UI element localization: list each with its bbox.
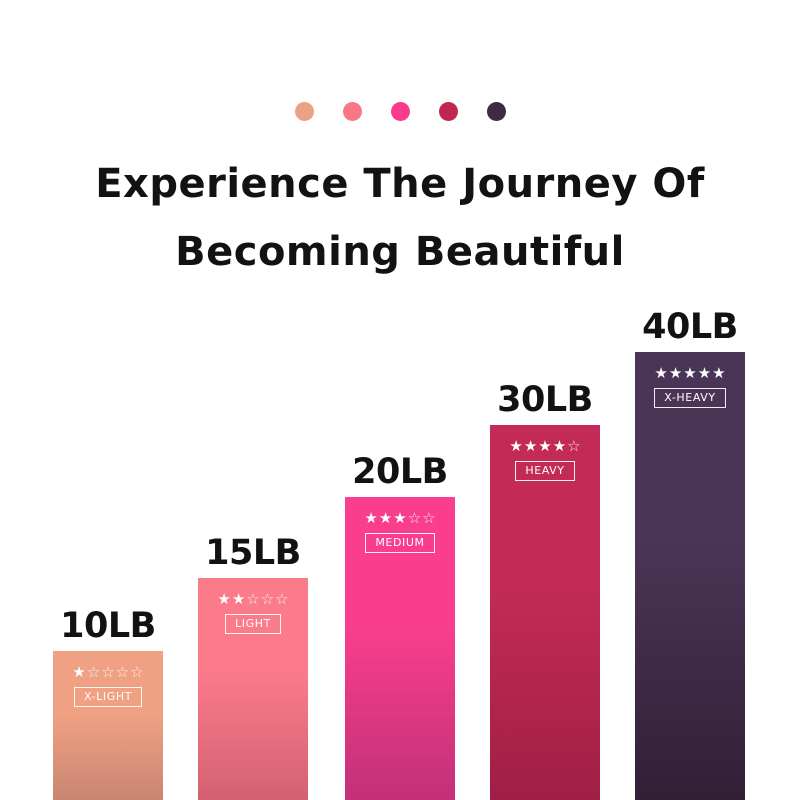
resistance-band-chart-page: Experience The Journey Of Becoming Beaut…	[0, 0, 800, 800]
bar-weight-label: 30LB	[497, 381, 593, 419]
star-empty-icon: ☆	[116, 665, 129, 680]
star-empty-icon: ☆	[261, 592, 274, 607]
bar-body: ★☆☆☆☆X-LIGHT	[53, 651, 163, 800]
star-empty-icon: ☆	[87, 665, 100, 680]
star-empty-icon: ☆	[101, 665, 114, 680]
star-rating: ★★★★☆	[509, 439, 580, 454]
resistance-level-label: LIGHT	[225, 614, 281, 634]
resistance-level-label: HEAVY	[515, 461, 574, 481]
resistance-level-label: MEDIUM	[365, 533, 434, 553]
bar-body: ★★☆☆☆LIGHT	[198, 578, 308, 800]
star-rating: ★★★☆☆	[364, 511, 435, 526]
star-filled-icon: ★	[524, 439, 537, 454]
bar-fill	[635, 352, 745, 800]
bar-weight-label: 15LB	[205, 534, 301, 572]
star-filled-icon: ★	[538, 439, 551, 454]
star-empty-icon: ☆	[275, 592, 288, 607]
star-filled-icon: ★	[217, 592, 230, 607]
bar-group-10lb[interactable]: 10LB★☆☆☆☆X-LIGHT	[53, 651, 163, 800]
star-rating: ★★☆☆☆	[217, 592, 288, 607]
star-filled-icon: ★	[509, 439, 522, 454]
bar-chart: 10LB★☆☆☆☆X-LIGHT15LB★★☆☆☆LIGHT20LB★★★☆☆M…	[0, 0, 800, 800]
star-filled-icon: ★	[654, 366, 667, 381]
bar-body: ★★★★☆HEAVY	[490, 425, 600, 800]
bar-weight-label: 20LB	[352, 453, 448, 491]
star-filled-icon: ★	[379, 511, 392, 526]
star-empty-icon: ☆	[422, 511, 435, 526]
star-filled-icon: ★	[712, 366, 725, 381]
bar-group-20lb[interactable]: 20LB★★★☆☆MEDIUM	[345, 497, 455, 800]
star-filled-icon: ★	[553, 439, 566, 454]
star-filled-icon: ★	[669, 366, 682, 381]
star-empty-icon: ☆	[408, 511, 421, 526]
star-filled-icon: ★	[698, 366, 711, 381]
bar-fill	[490, 425, 600, 800]
resistance-level-label: X-LIGHT	[74, 687, 142, 707]
bar-weight-label: 40LB	[642, 308, 738, 346]
bar-content: ★☆☆☆☆X-LIGHT	[53, 665, 163, 707]
bar-body: ★★★☆☆MEDIUM	[345, 497, 455, 800]
bar-content: ★★★★★X-HEAVY	[635, 366, 745, 408]
bar-body: ★★★★★X-HEAVY	[635, 352, 745, 800]
bar-content: ★★★★☆HEAVY	[490, 439, 600, 481]
star-empty-icon: ☆	[567, 439, 580, 454]
star-filled-icon: ★	[72, 665, 85, 680]
star-empty-icon: ☆	[246, 592, 259, 607]
bar-group-40lb[interactable]: 40LB★★★★★X-HEAVY	[635, 352, 745, 800]
bar-content: ★★★☆☆MEDIUM	[345, 511, 455, 553]
resistance-level-label: X-HEAVY	[654, 388, 725, 408]
bar-weight-label: 10LB	[60, 607, 156, 645]
star-rating: ★☆☆☆☆	[72, 665, 143, 680]
star-filled-icon: ★	[393, 511, 406, 526]
bar-group-30lb[interactable]: 30LB★★★★☆HEAVY	[490, 425, 600, 800]
star-filled-icon: ★	[364, 511, 377, 526]
star-filled-icon: ★	[683, 366, 696, 381]
star-filled-icon: ★	[232, 592, 245, 607]
star-rating: ★★★★★	[654, 366, 725, 381]
bar-group-15lb[interactable]: 15LB★★☆☆☆LIGHT	[198, 578, 308, 800]
star-empty-icon: ☆	[130, 665, 143, 680]
bar-content: ★★☆☆☆LIGHT	[198, 592, 308, 634]
